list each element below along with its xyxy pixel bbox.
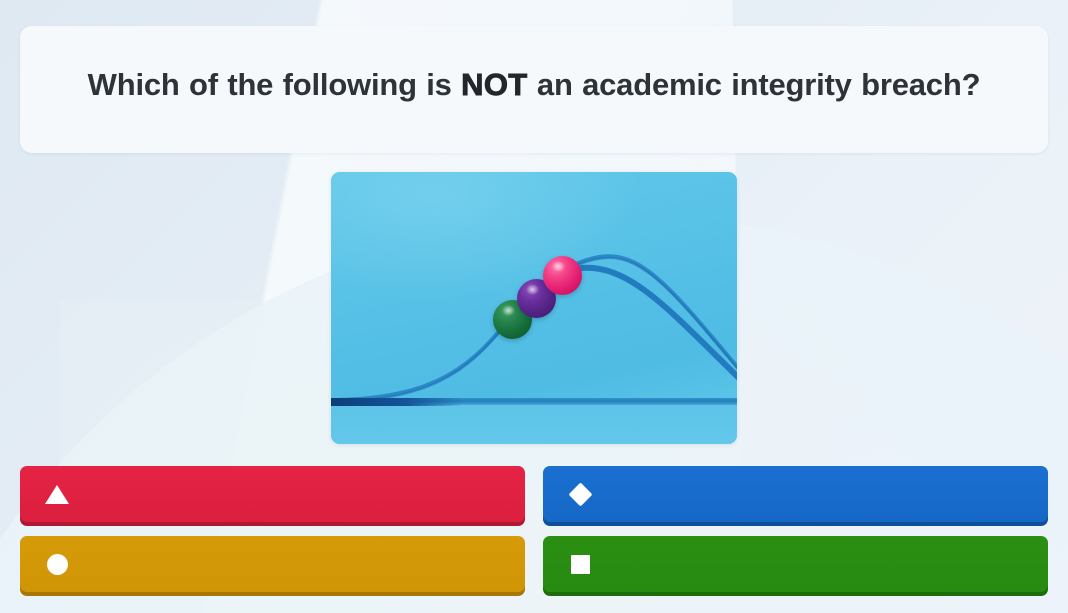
answer-option-gold[interactable] [20,536,525,592]
question-text-after: an academic integrity breach? [527,67,980,102]
diamond-icon [567,481,593,507]
square-icon [567,551,593,577]
answer-option-blue[interactable] [543,466,1048,522]
answer-option-red[interactable] [20,466,525,522]
question-text: Which of the following is NOT an academi… [88,63,981,107]
question-media-image [331,172,737,444]
answer-option-blue-face [543,466,1048,522]
pink-ball [543,256,582,295]
answer-options-grid [20,466,1048,596]
triangle-icon [44,481,70,507]
answer-option-green-face [543,536,1048,592]
answer-option-gold-face [20,536,525,592]
answer-option-red-face [20,466,525,522]
answer-option-green[interactable] [543,536,1048,592]
media-horizon-line-dark [331,398,463,406]
circle-icon [44,551,70,577]
question-text-before: Which of the following is [88,67,461,102]
question-emphasis-not: NOT [461,67,527,102]
question-card: Which of the following is NOT an academi… [20,26,1048,153]
